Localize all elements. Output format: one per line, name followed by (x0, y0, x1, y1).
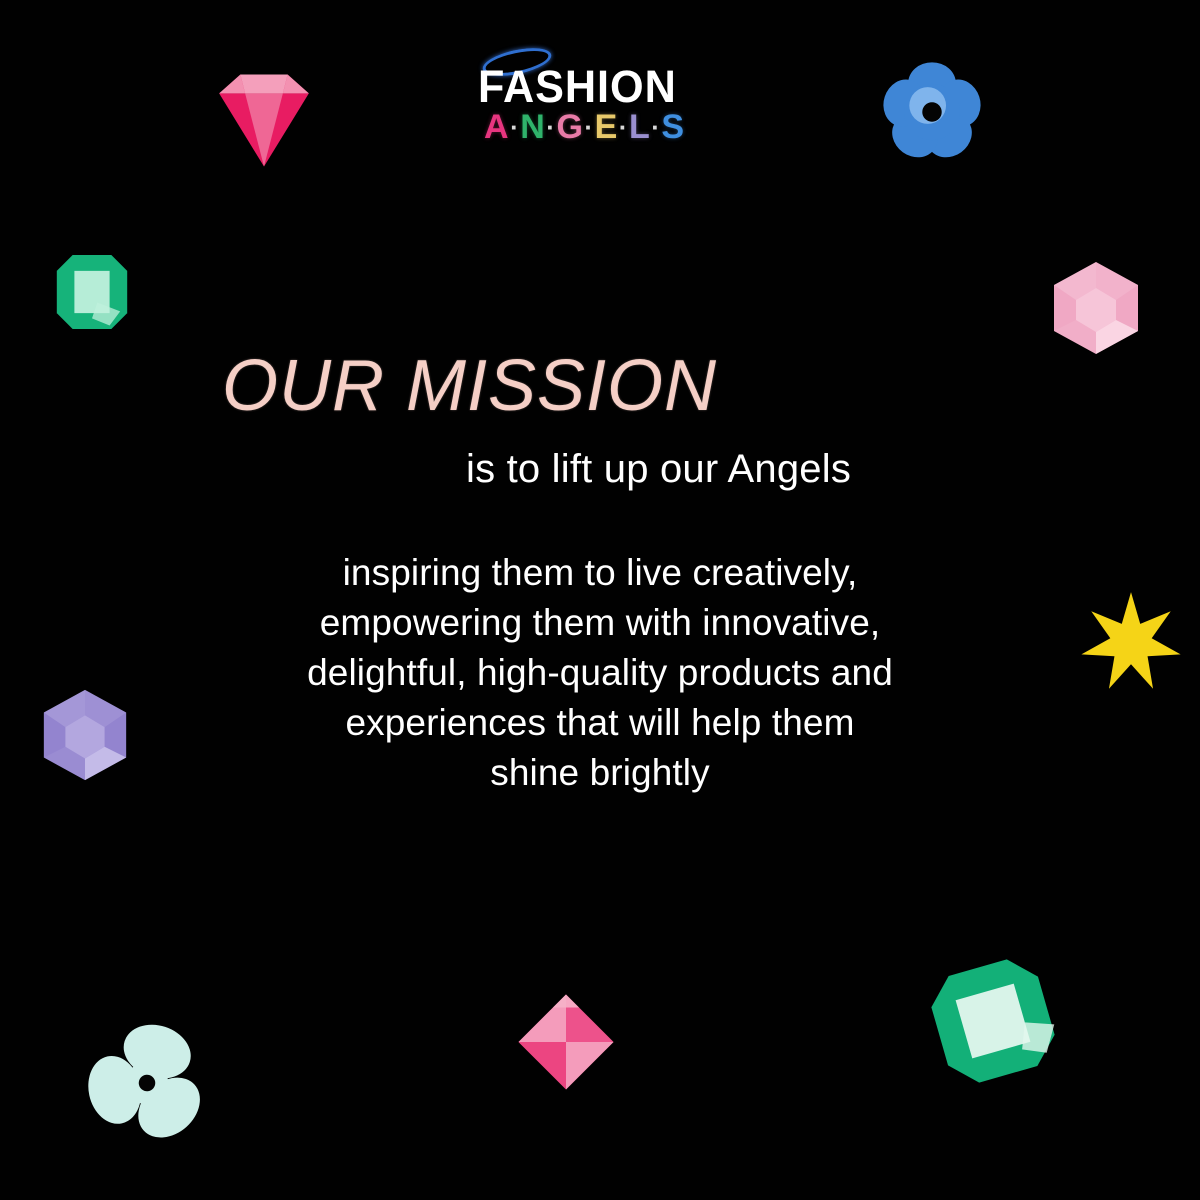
pink-hexagon-gem-icon (1046, 258, 1146, 358)
brand-letter-10: S (661, 110, 685, 144)
mint-flower-icon (88, 1024, 206, 1142)
mission-body-line: delightful, high-quality products and (180, 648, 1020, 698)
brand-letter-7: · (619, 114, 629, 140)
green-emerald-gem-icon (48, 248, 136, 336)
mission-poster: FASHION A·N·G·E·L·S OUR MISSION is to li… (0, 0, 1200, 1200)
brand-letter-4: G (556, 110, 584, 144)
pink-diamond-gem-2-icon (512, 988, 620, 1096)
mission-body-line: inspiring them to live creatively, (180, 548, 1020, 598)
mission-body-line: shine brightly (180, 748, 1020, 798)
brand-letter-5: · (584, 114, 594, 140)
purple-hexagon-gem-icon (36, 686, 134, 784)
brand-letter-8: L (629, 110, 651, 144)
fashion-angels-logo: FASHION A·N·G·E·L·S (478, 44, 738, 150)
mission-body-line: empowering them with innovative, (180, 598, 1020, 648)
mission-body-line: experiences that will help them (180, 698, 1020, 748)
brand-letter-6: E (595, 110, 619, 144)
brand-letter-2: N (520, 110, 546, 144)
brand-letter-0: A (484, 110, 510, 144)
mission-body-text: inspiring them to live creatively,empowe… (180, 548, 1020, 798)
brand-wordmark-fashion: FASHION (478, 64, 677, 109)
yellow-star-icon (1078, 590, 1184, 696)
green-emerald-gem-2-icon (930, 958, 1056, 1084)
page-subtitle: is to lift up our Angels (466, 447, 851, 492)
brand-letter-3: · (546, 114, 556, 140)
brand-wordmark-angels: A·N·G·E·L·S (484, 110, 686, 144)
blue-flower-icon (878, 58, 986, 166)
pink-diamond-gem-icon (205, 58, 323, 176)
page-title: OUR MISSION (222, 349, 717, 425)
brand-letter-1: · (510, 114, 520, 140)
brand-letter-9: · (651, 114, 661, 140)
